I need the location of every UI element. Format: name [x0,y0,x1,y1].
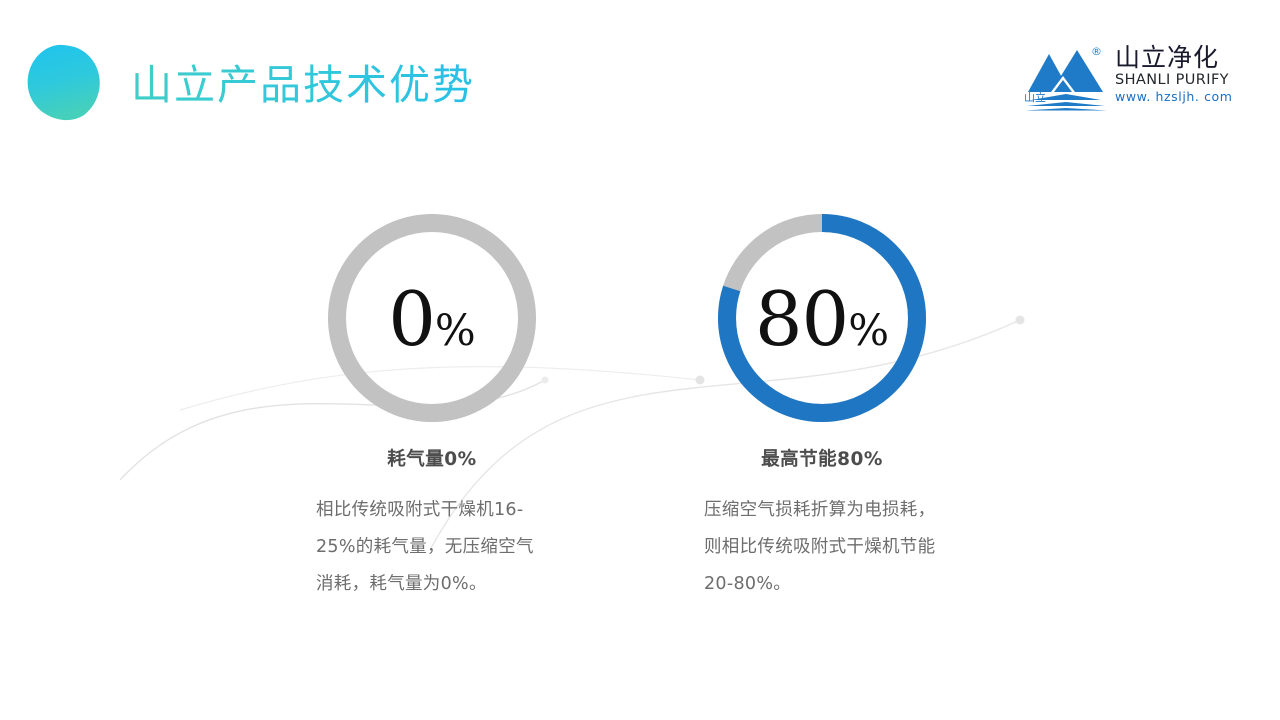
donut-value-number-0: 0 [388,275,435,363]
slide-body: 0% 耗气量0% 相比传统吸附式干燥机16-25%的耗气量，无压缩空气消耗，耗气… [0,150,1280,720]
donut-value-number-1: 80 [755,275,848,363]
donut-value-percent-0: % [435,306,476,356]
donut-chart-1: 80% [662,210,982,426]
brand-name-cn: 山立净化 [1115,44,1245,72]
registered-mark: ® [1091,46,1102,57]
page-title: 山立产品技术优势 [131,58,475,112]
decorative-curves [0,150,1280,720]
blob-shape-icon [26,44,102,122]
brand-mark-caption: 山立 [1024,92,1046,104]
donut-value-1: 80% [662,282,982,357]
brand-name-en: SHANLI PURIFY [1115,72,1245,89]
brand-website: www. hzsljh. com [1115,89,1245,105]
metric-label-0: 耗气量0% [272,448,592,472]
brand-text-block: 山立净化 SHANLI PURIFY www. hzsljh. com [1115,44,1245,112]
donut-value-0: 0% [272,282,592,357]
metric-card-1: 80% 最高节能80% 压缩空气损耗折算为电损耗，则相比传统吸附式干燥机节能20… [662,210,982,603]
brand-logo: ® 山立 山立净化 SHANLI PURIFY www. hzsljh. com [1023,44,1245,114]
donut-chart-0: 0% [272,210,592,426]
slide-header: 山立产品技术优势 ® 山立 山立净化 SHANLI PURIFY www [0,0,1280,150]
metric-card-0: 0% 耗气量0% 相比传统吸附式干燥机16-25%的耗气量，无压缩空气消耗，耗气… [272,210,592,603]
metric-description-0: 相比传统吸附式干燥机16-25%的耗气量，无压缩空气消耗，耗气量为0%。 [316,492,548,603]
mountain-logo-icon: ® 山立 [1023,46,1109,112]
donut-value-percent-1: % [848,306,889,356]
metric-description-1: 压缩空气损耗折算为电损耗，则相比传统吸附式干燥机节能20-80%。 [704,492,936,603]
metric-label-1: 最高节能80% [662,448,982,472]
